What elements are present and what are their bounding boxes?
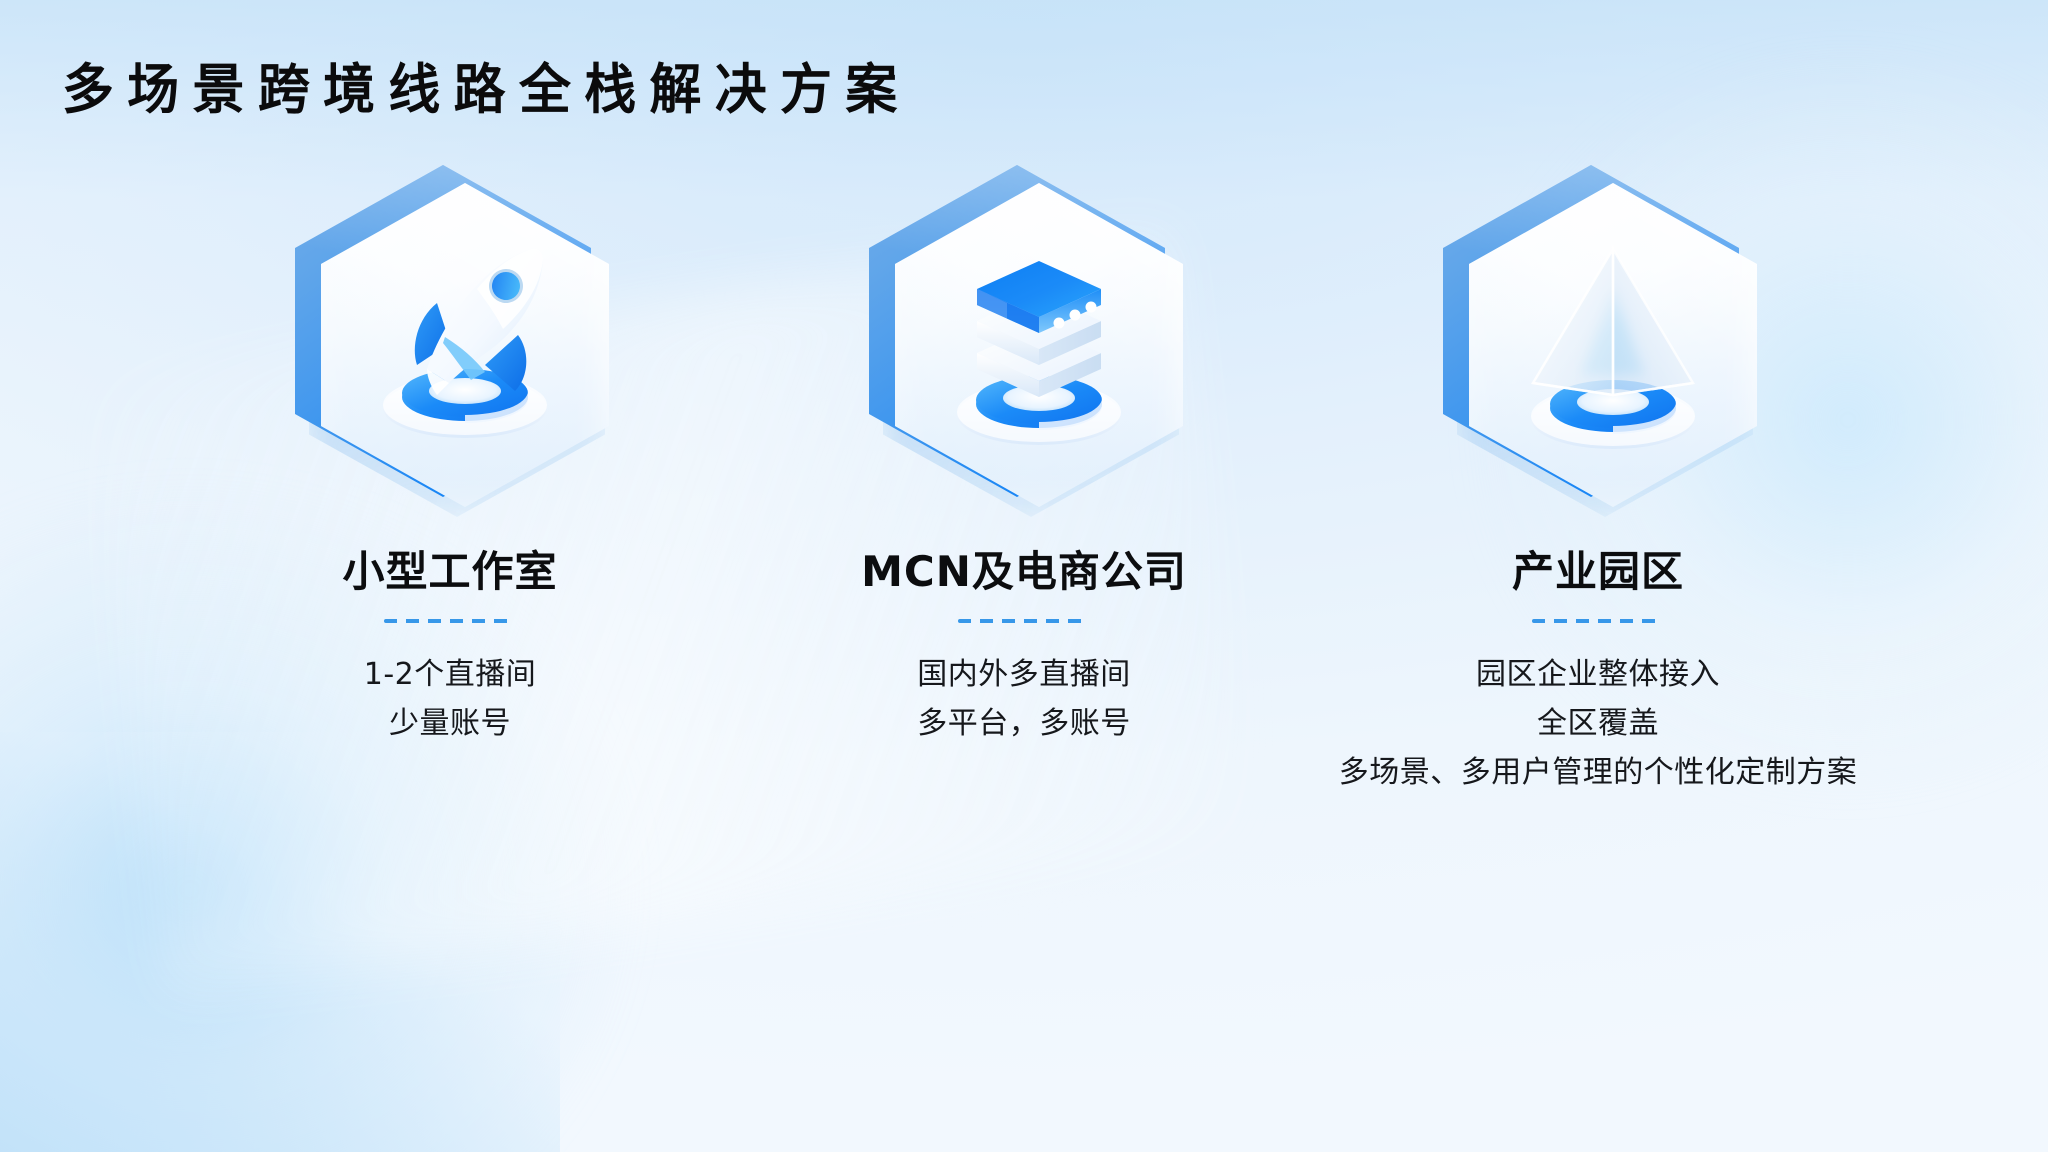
card-body-line: 少量账号 xyxy=(364,700,537,749)
hexagon-badge xyxy=(295,165,605,513)
solution-card-small-studio[interactable]: 小型工作室 1-2个直播间 少量账号 xyxy=(235,165,665,749)
card-title: MCN及电商公司 xyxy=(861,547,1187,597)
hexagon-badge xyxy=(869,165,1179,513)
card-body-line: 全区覆盖 xyxy=(1339,700,1858,749)
card-title: 产业园区 xyxy=(1512,547,1684,597)
card-body: 1-2个直播间 少量账号 xyxy=(364,651,537,748)
dashed-divider xyxy=(384,619,516,623)
page-title: 多场景跨境线路全栈解决方案 xyxy=(62,58,911,123)
card-body-line: 多场景、多用户管理的个性化定制方案 xyxy=(1339,749,1858,798)
card-body-line: 多平台，多账号 xyxy=(917,700,1131,749)
card-title: 小型工作室 xyxy=(342,547,557,597)
card-body-line: 园区企业整体接入 xyxy=(1339,651,1858,700)
card-body: 园区企业整体接入 全区覆盖 多场景、多用户管理的个性化定制方案 xyxy=(1339,651,1858,797)
card-body: 国内外多直播间 多平台，多账号 xyxy=(917,651,1131,748)
card-body-line: 1-2个直播间 xyxy=(364,651,537,700)
card-body-line: 国内外多直播间 xyxy=(917,651,1131,700)
solution-card-mcn-ecommerce[interactable]: MCN及电商公司 国内外多直播间 多平台，多账号 xyxy=(809,165,1239,749)
dashed-divider xyxy=(958,619,1090,623)
solution-cards-row: 小型工作室 1-2个直播间 少量账号 xyxy=(0,165,2048,797)
dashed-divider xyxy=(1532,619,1664,623)
solution-card-industrial-park[interactable]: 产业园区 园区企业整体接入 全区覆盖 多场景、多用户管理的个性化定制方案 xyxy=(1383,165,1813,797)
hexagon-badge xyxy=(1443,165,1753,513)
